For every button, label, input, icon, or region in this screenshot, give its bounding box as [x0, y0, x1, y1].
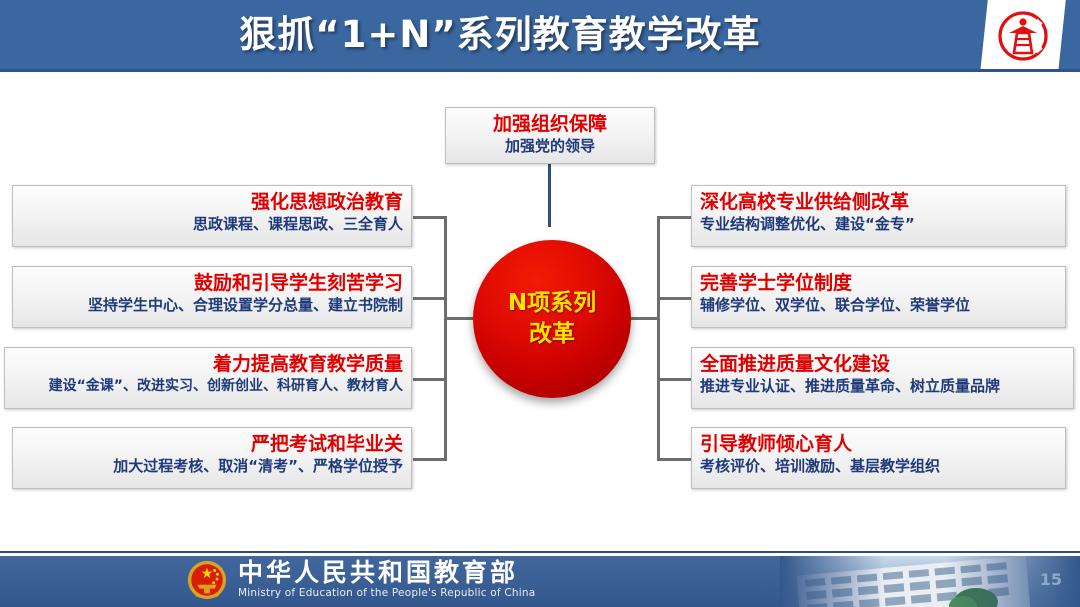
node-top-subtitle: 加强党的领导: [454, 136, 646, 157]
node-right-4[interactable]: 引导教师倾心育人 考核评价、培训激励、基层教学组织: [691, 427, 1066, 489]
national-emblem-icon: [186, 559, 228, 601]
node-top-title: 加强组织保障: [454, 112, 646, 136]
node-left-2-subtitle: 坚持学生中心、合理设置学分总量、建立书院制: [21, 295, 403, 316]
node-right-2-title: 完善学士学位制度: [700, 271, 1057, 295]
node-left-3[interactable]: 着力提高教育教学质量 建设“金课”、改进实习、创新创业、科研育人、教材育人: [4, 347, 412, 409]
connector-left-stub-1: [413, 216, 447, 219]
center-node-line2: 改革: [529, 319, 575, 350]
diagram-canvas: N项系列 改革 加强组织保障 加强党的领导 强化思想政治教育 思政课程、课程思政…: [0, 75, 1080, 535]
node-right-4-title: 引导教师倾心育人: [700, 432, 1057, 456]
ministry-brand: 中华人民共和国教育部 Ministry of Education of the …: [186, 559, 535, 601]
ministry-name-cn: 中华人民共和国教育部: [238, 559, 535, 586]
node-right-3[interactable]: 全面推进质量文化建设 推进专业认证、推进质量革命、树立质量品牌: [691, 347, 1074, 409]
connector-right-spine: [657, 216, 660, 461]
connector-left-spine: [444, 216, 447, 461]
node-left-1-subtitle: 思政课程、课程思政、三全育人: [21, 214, 403, 235]
slide-footer: 15 中华人民共和国教育部 Ministry of Education of t…: [0, 556, 1080, 607]
node-left-3-subtitle: 建设“金课”、改进实习、创新创业、科研育人、教材育人: [13, 376, 403, 397]
connector-right-stub-2: [657, 297, 691, 300]
node-left-2[interactable]: 鼓励和引导学生刻苦学习 坚持学生中心、合理设置学分总量、建立书院制: [12, 266, 412, 328]
node-right-1-title: 深化高校专业供给侧改革: [700, 190, 1057, 214]
page-title: 狠抓“1+N”系列教育教学改革: [0, 8, 1000, 62]
connector-left-stub-4: [413, 458, 447, 461]
node-left-2-title: 鼓励和引导学生刻苦学习: [21, 271, 403, 295]
node-right-3-title: 全面推进质量文化建设: [700, 352, 1065, 376]
page-number: 15: [1040, 570, 1062, 589]
building-photo: [780, 556, 1080, 607]
footer-divider: [0, 551, 1080, 553]
connector-right-stub-4: [657, 458, 691, 461]
building-photo-graphic: [780, 556, 1080, 607]
node-left-3-title: 着力提高教育教学质量: [13, 352, 403, 376]
center-node-line1: N项系列: [508, 288, 596, 319]
node-left-4[interactable]: 严把考试和毕业关 加大过程考核、取消“清考”、严格学位授予: [12, 427, 412, 489]
node-right-1-subtitle: 专业结构调整优化、建设“金专”: [700, 214, 1057, 235]
center-node[interactable]: N项系列 改革: [473, 240, 631, 398]
ladder-emblem-icon: [996, 9, 1050, 63]
node-right-3-subtitle: 推进专业认证、推进质量革命、树立质量品牌: [700, 376, 1065, 397]
node-left-4-subtitle: 加大过程考核、取消“清考”、严格学位授予: [21, 456, 403, 477]
connector-right-stub-3: [657, 378, 691, 381]
node-left-4-title: 严把考试和毕业关: [21, 432, 403, 456]
connector-left-stub-3: [413, 378, 447, 381]
node-left-1[interactable]: 强化思想政治教育 思政课程、课程思政、三全育人: [12, 185, 412, 247]
node-right-4-subtitle: 考核评价、培训激励、基层教学组织: [700, 456, 1057, 477]
org-logo: [980, 0, 1066, 72]
connector-right-stub-1: [657, 216, 691, 219]
slide-header: 狠抓“1+N”系列教育教学改革: [0, 0, 1080, 72]
ministry-name-en: Ministry of Education of the People's Re…: [238, 586, 535, 601]
node-right-1[interactable]: 深化高校专业供给侧改革 专业结构调整优化、建设“金专”: [691, 185, 1066, 247]
connector-left-stub-2: [413, 297, 447, 300]
node-left-1-title: 强化思想政治教育: [21, 190, 403, 214]
node-right-2[interactable]: 完善学士学位制度 辅修学位、双学位、联合学位、荣誉学位: [691, 266, 1066, 328]
node-top[interactable]: 加强组织保障 加强党的领导: [445, 107, 655, 164]
node-right-2-subtitle: 辅修学位、双学位、联合学位、荣誉学位: [700, 295, 1057, 316]
